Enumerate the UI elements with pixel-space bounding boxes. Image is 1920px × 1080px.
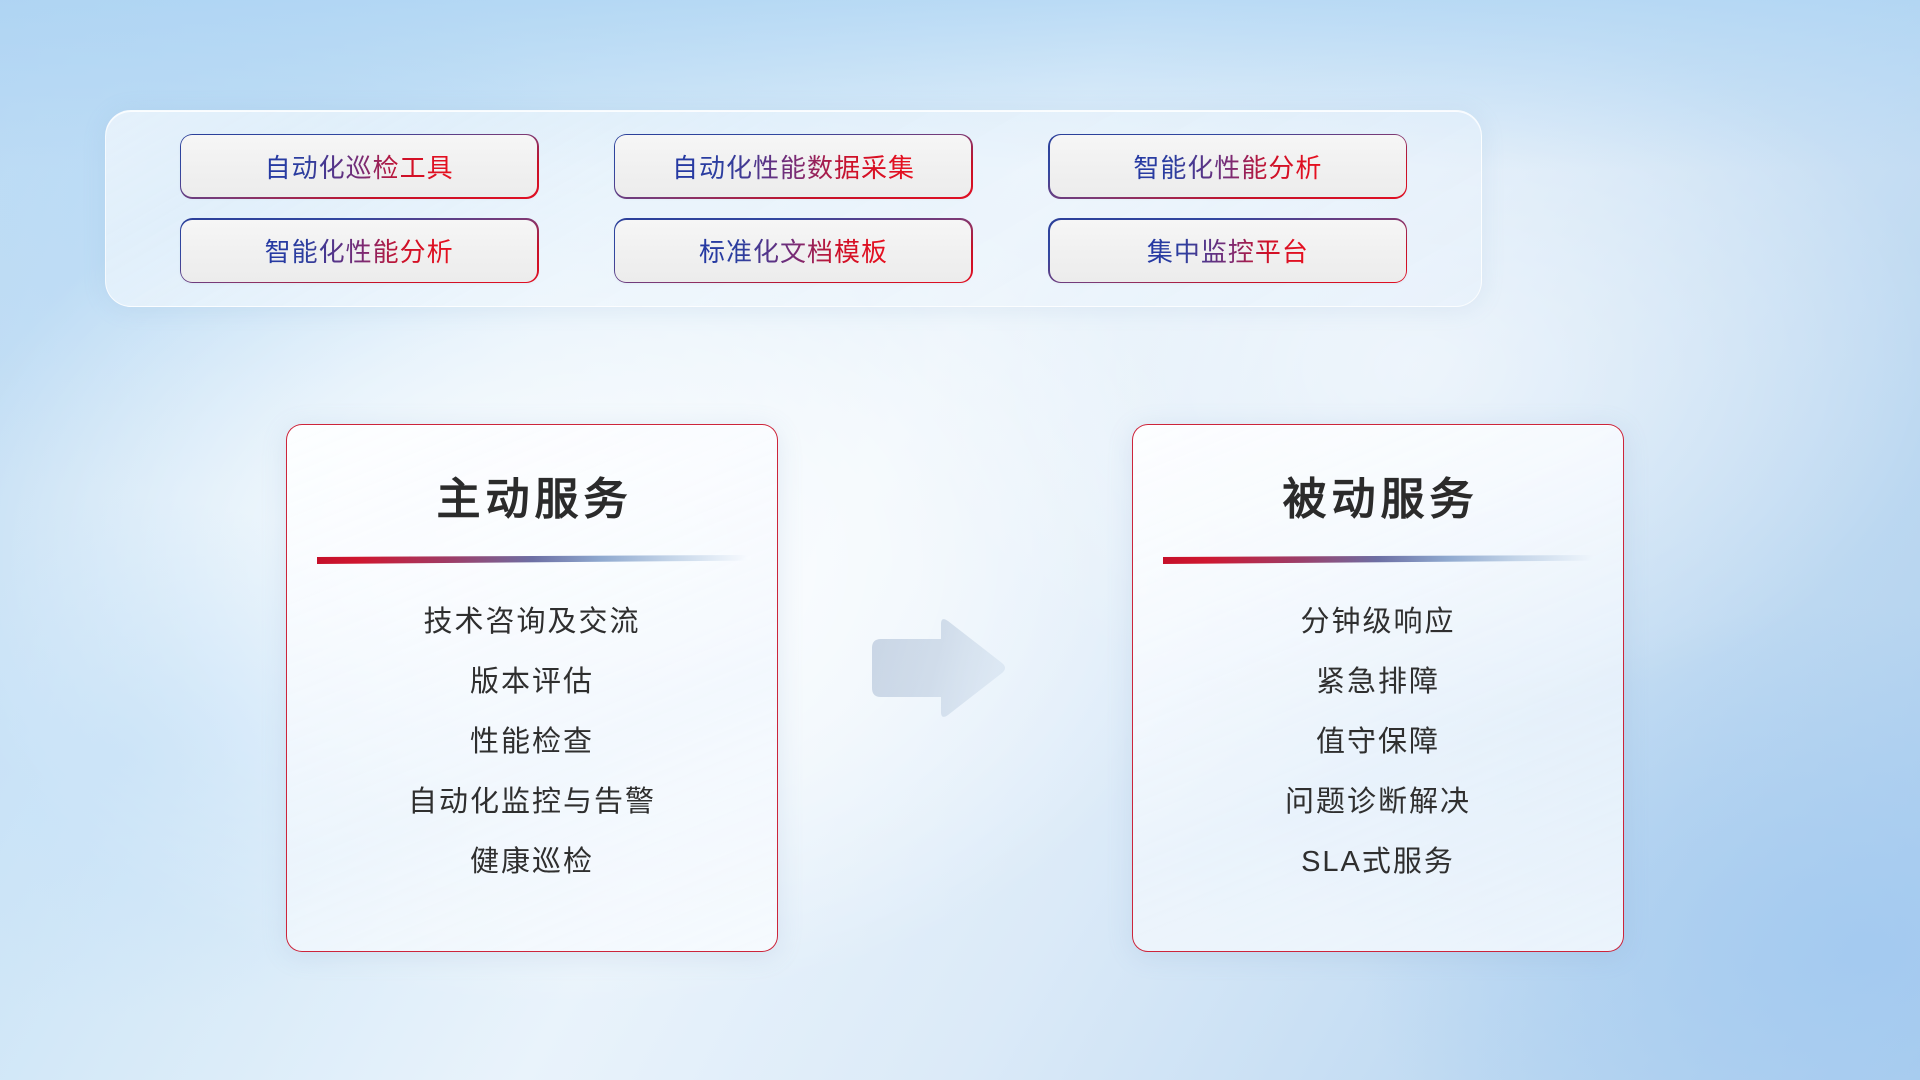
list-item: 健康巡检	[287, 848, 777, 877]
card-title: 被动服务	[1133, 463, 1623, 527]
capability-pill-label: 自动化性能数据采集	[672, 148, 915, 185]
capabilities-panel: 自动化巡检工具 自动化性能数据采集 智能化性能分析 智能化性能分析 标准化文档模…	[105, 110, 1482, 307]
capability-pill-label: 智能化性能分析	[265, 232, 454, 269]
capability-pill[interactable]: 智能化性能分析	[181, 220, 537, 282]
capability-pill-label: 智能化性能分析	[1133, 148, 1322, 185]
list-item: 性能检查	[287, 728, 777, 757]
card-divider	[317, 555, 747, 564]
list-item: 分钟级响应	[1133, 608, 1623, 637]
capability-pill[interactable]: 集中监控平台	[1050, 220, 1406, 282]
capability-pill[interactable]: 标准化文档模板	[615, 220, 971, 282]
capability-pill-grid: 自动化巡检工具 自动化性能数据采集 智能化性能分析 智能化性能分析 标准化文档模…	[106, 111, 1481, 306]
list-item: 问题诊断解决	[1133, 788, 1623, 817]
card-item-list: 技术咨询及交流 版本评估 性能检查 自动化监控与告警 健康巡检	[287, 608, 777, 877]
list-item: 紧急排障	[1133, 668, 1623, 697]
card-divider	[1163, 555, 1593, 564]
list-item: 技术咨询及交流	[287, 608, 777, 637]
capability-pill-label: 自动化巡检工具	[265, 148, 454, 185]
capability-pill[interactable]: 智能化性能分析	[1050, 135, 1406, 197]
list-item: SLA式服务	[1133, 848, 1623, 877]
card-title: 主动服务	[287, 463, 777, 527]
list-item: 版本评估	[287, 668, 777, 697]
list-item: 值守保障	[1133, 728, 1623, 757]
service-card-proactive: 主动服务 技术咨询及交流 版本评估 性能检查 自动化监控与告警 健康巡检	[286, 424, 778, 952]
capability-pill-label: 集中监控平台	[1147, 232, 1309, 269]
capability-pill[interactable]: 自动化性能数据采集	[615, 135, 971, 197]
list-item: 自动化监控与告警	[287, 788, 777, 817]
capability-pill-label: 标准化文档模板	[699, 232, 888, 269]
arrow-right-icon	[868, 616, 1008, 724]
service-card-reactive: 被动服务 分钟级响应 紧急排障 值守保障 问题诊断解决 SLA式服务	[1132, 424, 1624, 952]
card-item-list: 分钟级响应 紧急排障 值守保障 问题诊断解决 SLA式服务	[1133, 608, 1623, 877]
capability-pill[interactable]: 自动化巡检工具	[181, 135, 537, 197]
